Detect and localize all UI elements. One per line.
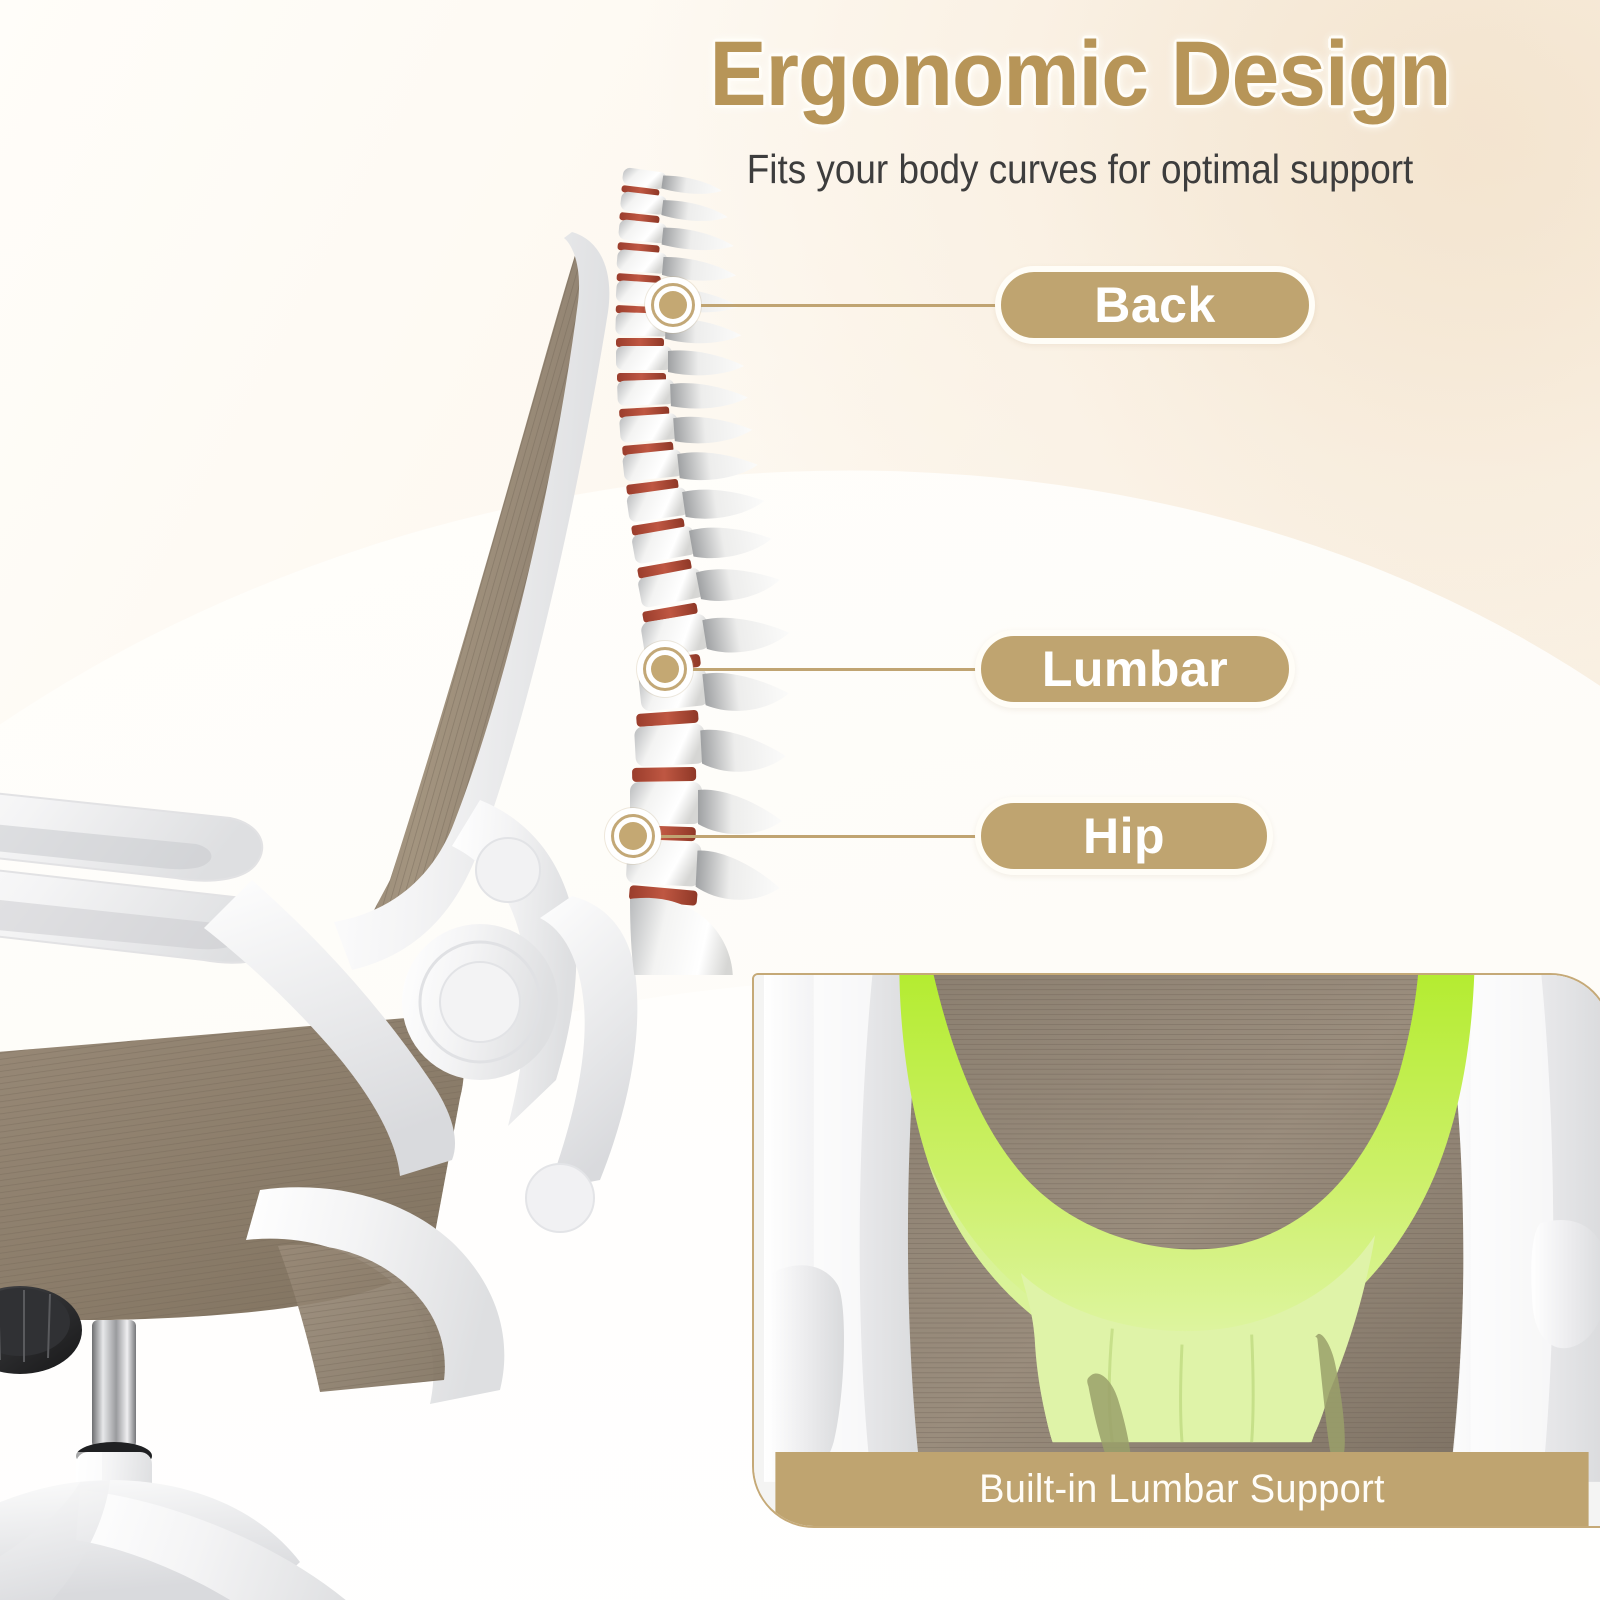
callout-label-hip[interactable]: Hip bbox=[975, 797, 1273, 875]
callout-label-lumbar[interactable]: Lumbar bbox=[975, 630, 1295, 708]
infographic-canvas: Ergonomic Design Fits your body curves f… bbox=[0, 0, 1600, 1600]
callout-label-back[interactable]: Back bbox=[995, 266, 1315, 344]
spine-sacrum bbox=[630, 898, 733, 975]
inset-caption: Built-in Lumbar Support bbox=[775, 1452, 1588, 1526]
callout-back[interactable]: Back bbox=[645, 266, 1315, 344]
chair-base bbox=[0, 1480, 408, 1600]
anatomy-marker-dot-lumbar bbox=[637, 641, 693, 697]
lumbar-support-inset-panel: Built-in Lumbar Support bbox=[752, 973, 1600, 1528]
anatomy-marker-dot-hip bbox=[605, 808, 661, 864]
lumbar-closeup-image bbox=[754, 975, 1600, 1526]
leader-line-back bbox=[699, 304, 999, 307]
callout-hip[interactable]: Hip bbox=[605, 797, 1273, 875]
spine-thoracic bbox=[615, 312, 782, 623]
leader-line-hip bbox=[659, 835, 979, 838]
leader-line-lumbar bbox=[691, 668, 979, 671]
anatomy-marker-dot-back bbox=[645, 277, 701, 333]
page-title: Ergonomic Design bbox=[596, 26, 1563, 124]
callout-lumbar[interactable]: Lumbar bbox=[637, 630, 1295, 708]
